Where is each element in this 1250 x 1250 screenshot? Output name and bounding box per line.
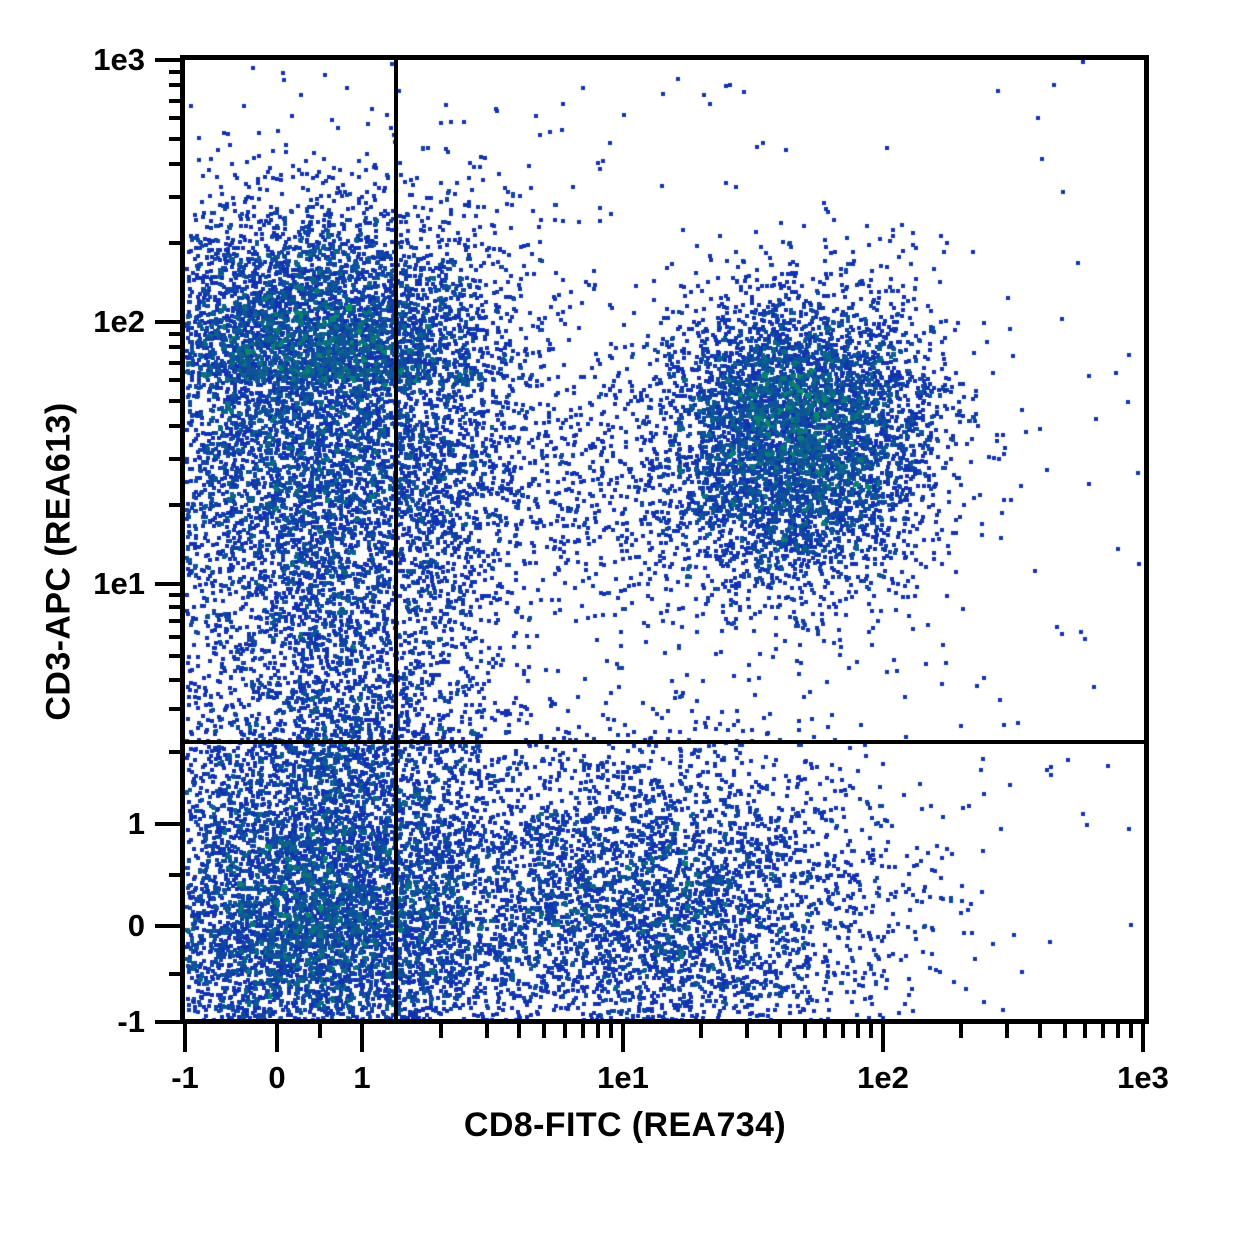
x-axis-minor-tick [869,1024,873,1038]
y-axis-minor-tick [169,635,185,639]
y-axis-minor-tick [169,162,185,166]
y-axis-major-tick [155,320,185,324]
x-axis-major-tick [275,1024,279,1052]
y-axis-major-tick [155,58,185,62]
x-axis-minor-tick [959,1024,963,1038]
x-axis-minor-tick [439,1024,443,1038]
x-axis-minor-tick [778,1024,782,1038]
y-axis-minor-tick [169,593,185,597]
y-axis-minor-tick [169,241,185,245]
y-axis-tick-label: 0 [0,908,145,944]
x-axis-minor-tick [699,1024,703,1038]
x-axis-minor-tick [823,1024,827,1038]
x-axis-minor-tick [1038,1024,1042,1038]
x-axis-minor-tick [1129,1024,1133,1038]
x-axis-minor-tick [856,1024,860,1038]
x-axis-minor-tick [1116,1024,1120,1038]
y-axis-tick-label: 1e3 [0,42,145,78]
y-axis-minor-tick [169,457,185,461]
y-axis-minor-tick [169,972,185,976]
y-axis-major-tick [155,1020,185,1024]
x-axis-minor-tick [609,1024,613,1038]
x-axis-major-tick [183,1024,187,1052]
y-axis-minor-tick [169,116,185,120]
x-axis-tick-label: 1e3 [1117,1060,1169,1096]
x-axis-minor-tick [1005,1024,1009,1038]
x-axis-minor-tick [803,1024,807,1038]
x-axis-minor-tick [1063,1024,1067,1038]
x-axis-major-tick [1141,1024,1145,1052]
x-axis-minor-tick [745,1024,749,1038]
x-axis-tick-label: -1 [171,1060,199,1096]
x-axis-tick-label: 0 [268,1060,285,1096]
y-axis-minor-tick [169,873,185,877]
x-axis-minor-tick [542,1024,546,1038]
x-axis-minor-tick [485,1024,489,1038]
y-axis-minor-tick [169,654,185,658]
scatter-canvas-container [185,60,1144,1019]
y-axis-minor-tick [169,332,185,336]
y-axis-major-tick [155,582,185,586]
x-axis-minor-tick [1101,1024,1105,1038]
y-axis-minor-tick [169,137,185,141]
y-axis-major-tick [155,924,185,928]
x-axis-minor-tick [517,1024,521,1038]
y-axis-minor-tick [169,399,185,403]
x-axis-minor-tick [841,1024,845,1038]
x-axis-minor-tick [318,1024,322,1038]
quadrant-gate-vertical[interactable] [394,60,398,1024]
y-axis-minor-tick [169,99,185,103]
y-axis-minor-tick [169,345,185,349]
plot-frame-right-edge [1144,55,1149,1024]
y-axis-minor-tick [169,83,185,87]
x-axis-minor-tick [596,1024,600,1038]
y-axis-minor-tick [169,503,185,507]
x-axis-major-tick [360,1024,364,1052]
y-axis-minor-tick [169,378,185,382]
x-axis-major-tick [621,1024,625,1052]
y-axis-title: CD3-APC (REA613) [40,262,79,862]
scatter-dots-canvas [185,60,1144,1019]
x-axis-major-tick [881,1024,885,1052]
y-axis-minor-tick [169,678,185,682]
x-axis-minor-tick [1083,1024,1087,1038]
x-axis-minor-tick [581,1024,585,1038]
x-axis-tick-label: 1 [353,1060,370,1096]
y-axis-minor-tick [169,195,185,199]
y-axis-major-tick [155,822,185,826]
x-axis-tick-label: 1e1 [597,1060,649,1096]
quadrant-gate-horizontal[interactable] [185,740,1144,744]
y-axis-minor-tick [169,605,185,609]
x-axis-tick-label: 1e2 [857,1060,909,1096]
y-axis-minor-tick [169,750,185,754]
y-axis-minor-tick [169,707,185,711]
x-axis-minor-tick [563,1024,567,1038]
y-axis-minor-tick [169,70,185,74]
y-axis-minor-tick [169,619,185,623]
y-axis-minor-tick [169,424,185,428]
flow-cytometry-dotplot: -1011e11e21e3 1e31e21e110-1 CD8-FITC (RE… [0,0,1250,1250]
y-axis-minor-tick [169,361,185,365]
y-axis-tick-label: -1 [0,1004,145,1040]
x-axis-title: CD8-FITC (REA734) [0,1106,1250,1145]
